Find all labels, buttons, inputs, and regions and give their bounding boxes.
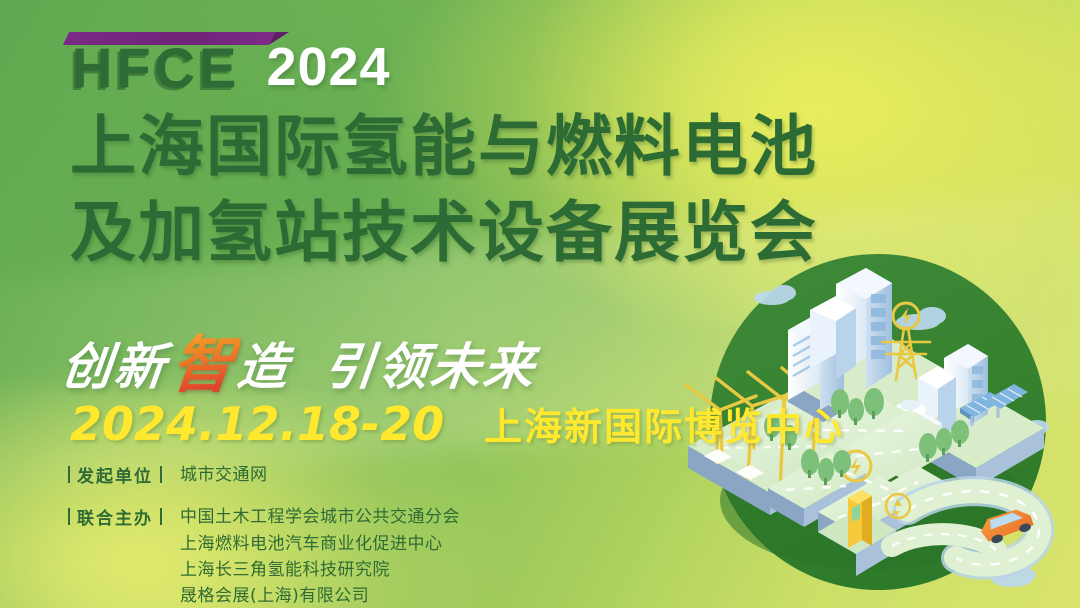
organizer-values-initiator: 城市交通网 bbox=[180, 462, 268, 488]
organizer-row-cohosts: 联合主办 中国土木工程学会城市公共交通分会 上海燃料电池汽车商业化促进中心 上海… bbox=[68, 504, 460, 608]
organizer-value: 上海长三角氢能科技研究院 bbox=[180, 557, 460, 583]
slogan-part-1: 创新 bbox=[58, 327, 172, 399]
event-datetime-venue: 2024.12.18-20 上海新国际博览中心 bbox=[70, 396, 844, 451]
slogan-highlight-char: 智 bbox=[164, 314, 243, 404]
organizer-block: 发起单位 城市交通网 联合主办 中国土木工程学会城市公共交通分会 上海燃料电池汽… bbox=[68, 462, 460, 608]
bar-right-icon bbox=[160, 466, 162, 483]
organizer-value: 城市交通网 bbox=[180, 462, 268, 488]
event-date: 2024.12.18-20 bbox=[70, 397, 444, 451]
organizer-label-cohosts: 联合主办 bbox=[68, 504, 162, 529]
organizer-label-text: 发起单位 bbox=[77, 462, 153, 487]
organizer-value: 中国土木工程学会城市公共交通分会 bbox=[180, 504, 460, 530]
poster-canvas: HFCE 2024 上海国际氢能与燃料电池 及加氢站技术设备展览会 创新 智 造… bbox=[0, 0, 1080, 608]
title-line-2: 及加氢站技术设备展览会 bbox=[70, 190, 818, 276]
organizer-values-cohosts: 中国土木工程学会城市公共交通分会 上海燃料电池汽车商业化促进中心 上海长三角氢能… bbox=[180, 504, 460, 608]
organizer-label-initiator: 发起单位 bbox=[68, 462, 162, 487]
organizer-value: 晟格会展(上海)有限公司 bbox=[180, 583, 460, 608]
organizer-row-initiator: 发起单位 城市交通网 bbox=[68, 462, 460, 488]
organizer-value: 上海燃料电池汽车商业化促进中心 bbox=[180, 531, 460, 557]
bar-left-icon bbox=[68, 466, 70, 483]
bar-right-icon bbox=[160, 508, 162, 525]
bar-left-icon bbox=[68, 508, 70, 525]
slogan-part-3: 引领未来 bbox=[321, 327, 541, 399]
slogan: 创新 智 造 引领未来 bbox=[62, 318, 537, 408]
slogan-part-2: 造 bbox=[234, 327, 295, 399]
page-title: 上海国际氢能与燃料电池 及加氢站技术设备展览会 bbox=[70, 104, 818, 276]
hfce-logo: HFCE bbox=[72, 30, 240, 96]
edition-year: 2024 bbox=[266, 40, 390, 96]
organizer-label-text: 联合主办 bbox=[77, 504, 153, 529]
title-line-1: 上海国际氢能与燃料电池 bbox=[70, 104, 818, 190]
hfce-acronym: HFCE bbox=[72, 30, 240, 96]
event-venue: 上海新国际博览中心 bbox=[484, 396, 844, 451]
brand-lockup: HFCE 2024 bbox=[72, 30, 391, 96]
